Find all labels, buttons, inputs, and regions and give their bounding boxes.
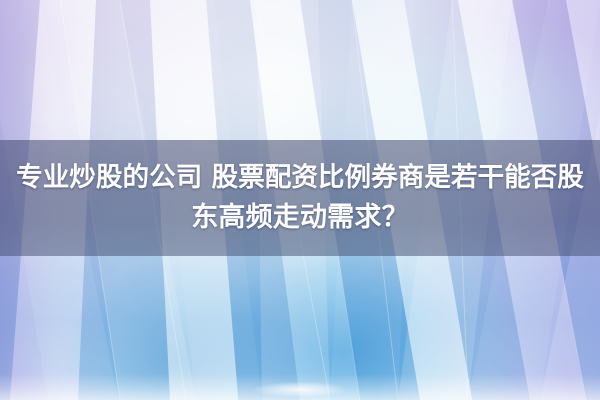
- caption-text-block: 专业炒股的公司 股票配资比例券商是若干能否股 东高频走动需求？: [0, 140, 600, 256]
- caption-line-1: 专业炒股的公司 股票配资比例券商是若干能否股: [16, 161, 584, 195]
- banner-image: 专业炒股的公司 股票配资比例券商是若干能否股 东高频走动需求？: [0, 0, 600, 400]
- bottom-watermark: [240, 380, 360, 396]
- caption-line-2: 东高频走动需求？: [191, 201, 409, 235]
